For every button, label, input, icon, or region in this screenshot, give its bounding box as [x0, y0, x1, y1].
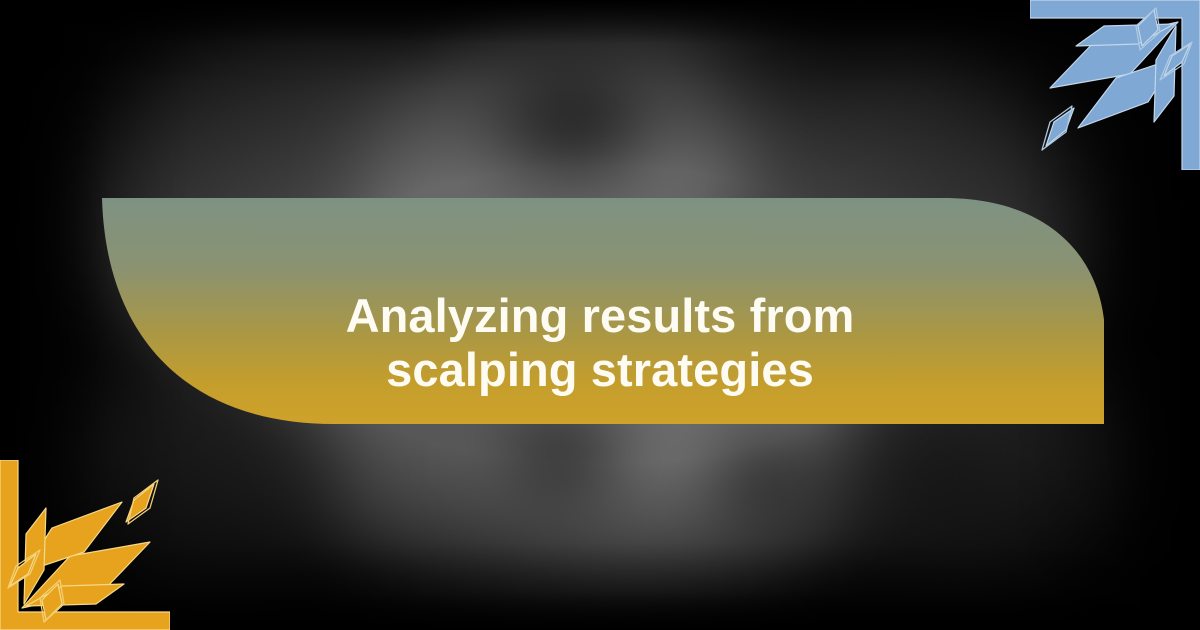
flourish-tr-svg [1030, 0, 1200, 170]
corner-flourish-bottom-left-icon [0, 460, 170, 630]
banner-canvas: Analyzing results from scalping strategi… [0, 0, 1200, 630]
flourish-bl-svg [0, 460, 170, 630]
title-banner: Analyzing results from scalping strategi… [96, 192, 1104, 436]
page-title: Analyzing results from scalping strategi… [96, 192, 1104, 436]
title-line-2: scalping strategies [386, 343, 814, 397]
title-line-1: Analyzing results from [346, 289, 855, 343]
corner-flourish-top-right-icon [1030, 0, 1200, 170]
